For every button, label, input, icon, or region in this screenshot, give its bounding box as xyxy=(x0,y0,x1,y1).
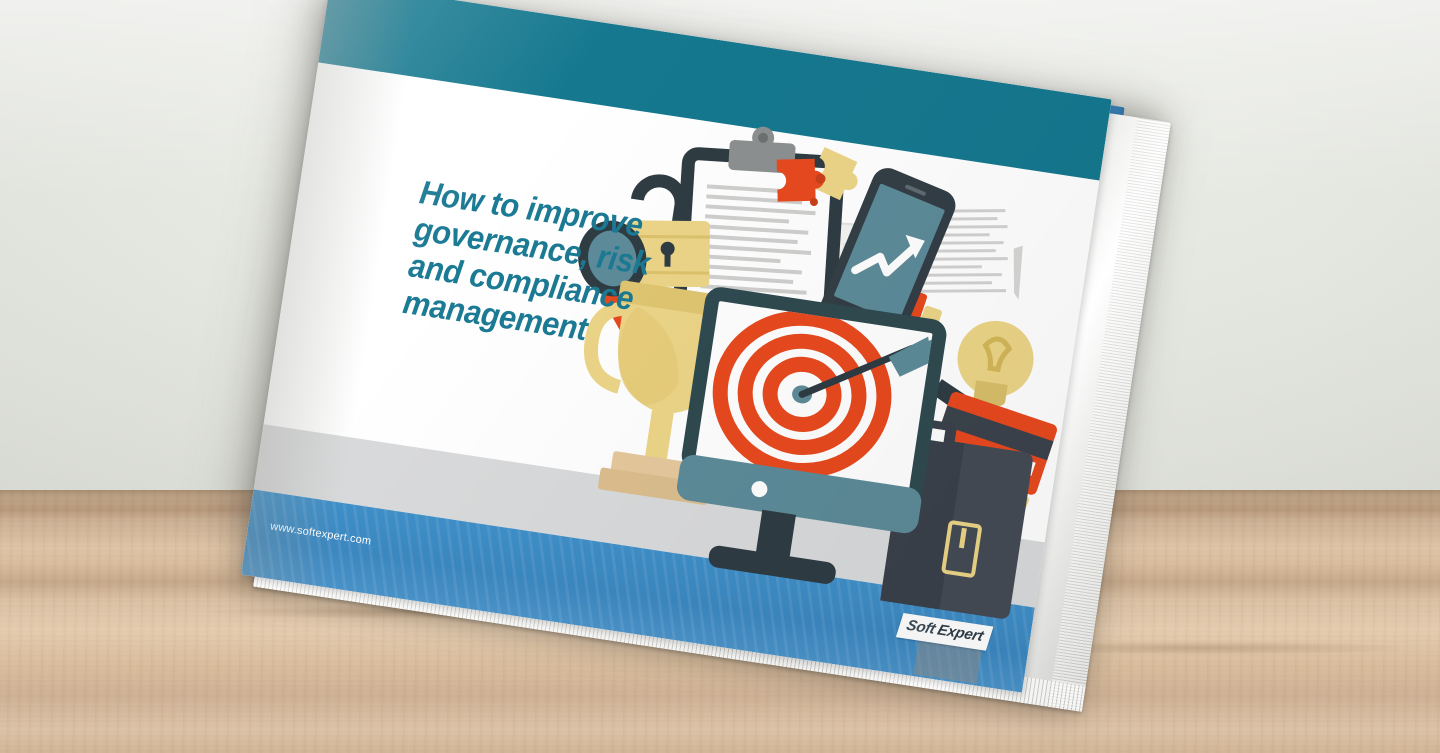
logo-word-expert: Expert xyxy=(935,622,985,645)
book[interactable]: How to improve governance, risk and comp… xyxy=(227,0,1163,740)
book-front-cover[interactable]: How to improve governance, risk and comp… xyxy=(241,0,1112,693)
cover-illustration xyxy=(548,87,1112,626)
logo-word-soft: Soft xyxy=(904,617,937,638)
scene: How to improve governance, risk and comp… xyxy=(0,0,1440,753)
